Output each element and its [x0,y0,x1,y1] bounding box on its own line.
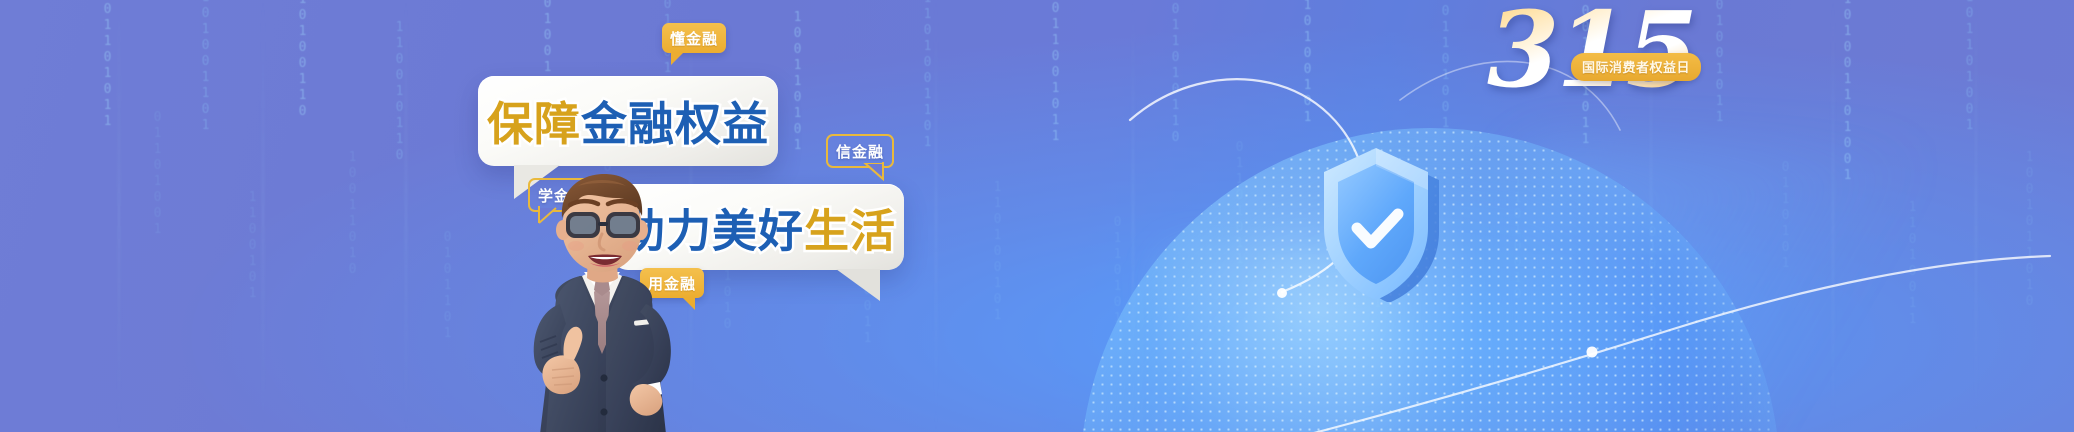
tag-xin-jinrong-label: 信金融 [836,141,884,162]
shield-check-icon [1306,140,1446,308]
headline-secondary-part-2: 生活 [804,195,896,260]
logo-number: 315 [1487,0,1695,102]
orbit-arc [1150,60,2050,432]
tag-dong-jinrong-label: 懂金融 [670,28,718,49]
businessman-thumbs-up [494,172,704,432]
promo-banner: 1001101011 01101001 101001101 1100101 01… [0,0,2074,432]
headline-bubble-primary: 保障金融权益 [478,76,778,166]
background-glow-panel [1520,150,1940,432]
tag-xin-jinrong[interactable]: 信金融 [826,134,894,168]
headline-primary-part-1: 保障 [487,88,581,154]
tag-dong-jinrong-tail [671,52,684,65]
headline-primary-text: 保障金融权益 [478,88,778,154]
logo-badge: 国际消费者权益日 [1571,53,1701,81]
tag-dong-jinrong[interactable]: 懂金融 [662,23,726,53]
logo-315: 315 国际消费者权益日 [1487,0,1747,106]
tag-xin-jinrong-tail [866,164,884,180]
binary-code-background: 1001101011 01101001 101001101 1100101 01… [0,0,2074,432]
headline-primary-part-2: 金融权益 [581,88,769,154]
headline-secondary-tail [836,269,880,301]
